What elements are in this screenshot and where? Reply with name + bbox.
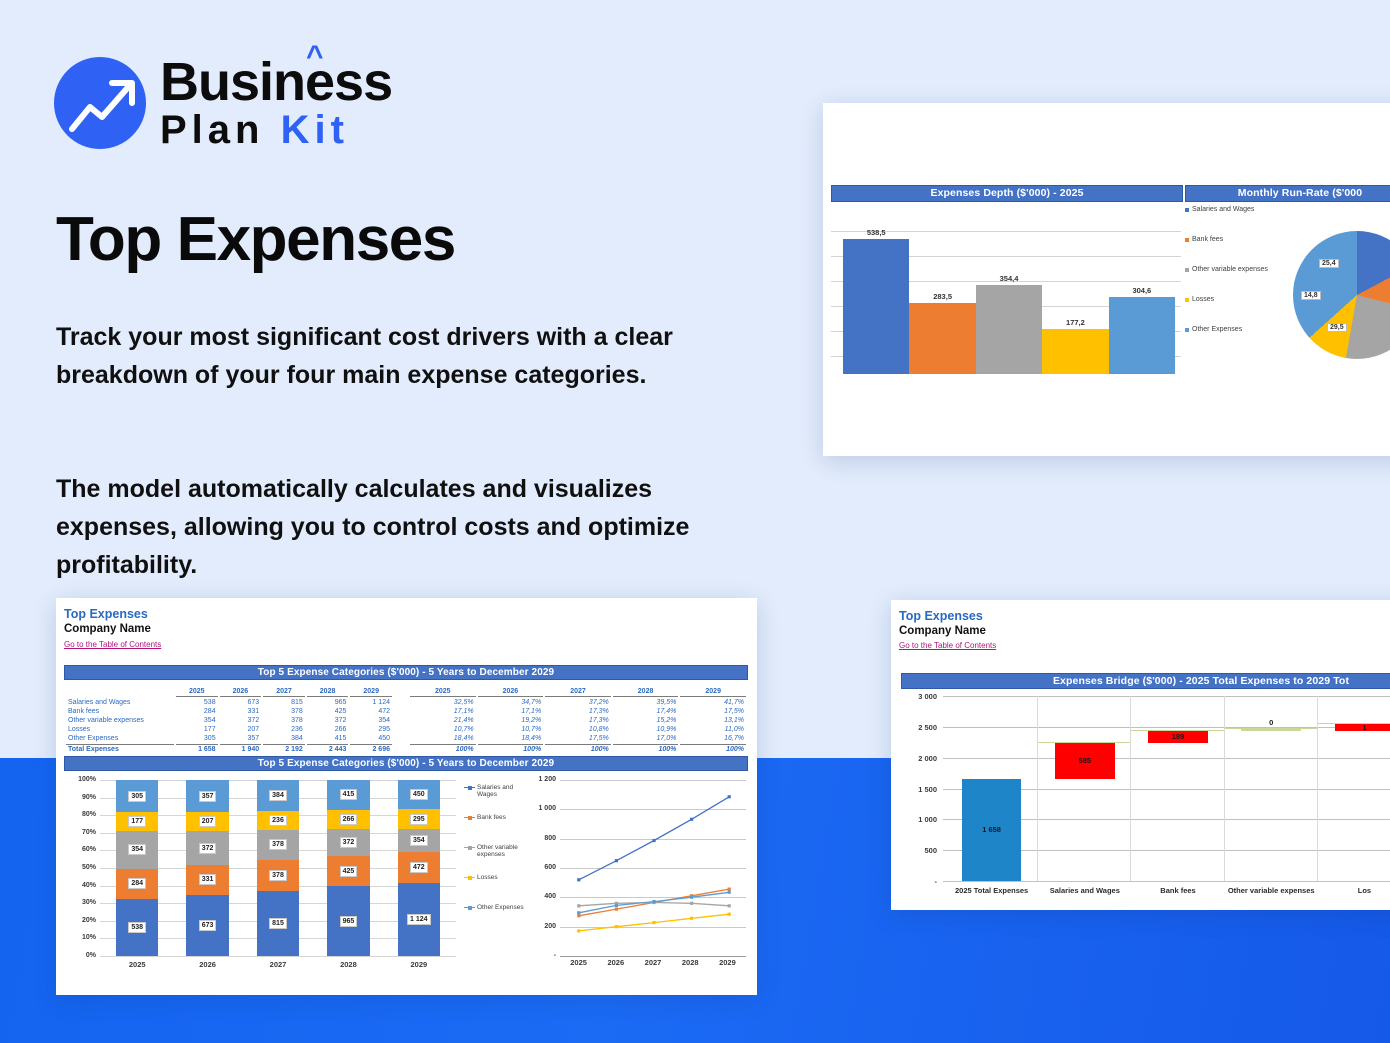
stacked-bar-2029[interactable]: 4502953544721 124 (384, 780, 454, 956)
waterfall-value-label: 1 (1335, 724, 1390, 731)
line-series-0 (579, 797, 729, 880)
pct-cell: 39,5% (613, 699, 679, 706)
waterfall-value-label: 189 (1148, 731, 1208, 743)
table-row: Other Expenses305357384415450 (66, 735, 392, 742)
segment-value-label: 305 (128, 791, 146, 802)
segment-value-label: 425 (340, 866, 358, 877)
table-row: Salaries and Wages5386738159651 124 (66, 699, 392, 706)
hero-paragraph-2: The model automatically calculates and v… (56, 470, 736, 584)
table-cell: 1 940 (220, 744, 262, 753)
segment-value-label: 354 (128, 844, 146, 855)
stack-segment[interactable]: 354 (116, 831, 158, 869)
chart-band-title: Top 5 Expense Categories ($'000) - 5 Yea… (64, 756, 748, 771)
panel-c-toc-link[interactable]: Go to the Table of Contents (899, 641, 996, 650)
line-x-axis: 20252026202720282029 (560, 958, 746, 967)
stack-segment[interactable]: 450 (398, 780, 440, 809)
row-label: Losses (66, 726, 174, 733)
stack-segment[interactable]: 372 (327, 829, 369, 856)
table-cell: 1 658 (176, 744, 218, 753)
segment-value-label: 538 (128, 922, 146, 933)
pct-row: 18,4%18,4%17,5%17,0%16,7% (410, 735, 746, 742)
segment-value-label: 472 (410, 862, 428, 873)
pct-cell: 41,7% (680, 699, 746, 706)
pct-cell: 10,9% (613, 726, 679, 733)
legend-item-salaries-and-wages[interactable]: Salaries and Wages (1185, 206, 1295, 236)
pie-label-other-variable-expenses: 29,5 (1327, 323, 1347, 332)
expenses-depth-title: Expenses Depth ($'000) - 2025 (831, 185, 1183, 202)
stack-segment[interactable]: 378 (257, 830, 299, 860)
expenses-bridge-waterfall-chart[interactable]: 3 0002 5002 0001 5001 000500- 1 65858518… (901, 696, 1390, 906)
legend-label: Other variable expenses (1192, 266, 1268, 273)
bar-group: 538,5 283,5 354,4 177,2 304,6 (843, 224, 1175, 374)
pct-cell: 21,4% (410, 717, 476, 724)
stacked-bar-group: 3051773542845383572073723316733842363783… (102, 780, 454, 956)
table-cell: 372 (307, 717, 349, 724)
legend-label: Bank fees (477, 814, 506, 821)
segment-value-label: 1 124 (407, 914, 431, 925)
waterfall-y-tick: 500 (901, 846, 937, 855)
table-row: Other variable expenses354372378372354 (66, 717, 392, 724)
table-year-header-2027: 2027 (263, 688, 305, 697)
waterfall-value-label: 1 658 (962, 779, 1022, 881)
bar-other-variable-expenses[interactable]: 354,4 (976, 285, 1042, 374)
segment-value-label: 284 (128, 878, 146, 889)
line-y-tick: - (530, 952, 556, 959)
line-y-tick: 1 000 (530, 805, 556, 812)
pct-cell: 18,4% (410, 735, 476, 742)
pct-year-header-2029: 2029 (680, 688, 746, 697)
line-chart-legend: Salaries and Wages Bank fees Other varia… (464, 784, 526, 934)
waterfall-bar-group: 1 65858518901 (945, 696, 1390, 881)
legend-label: Salaries and Wages (1192, 206, 1254, 213)
waterfall-y-tick: 1 500 (901, 785, 937, 794)
brand-logo: Business ^ Plan Kit (54, 56, 392, 150)
table-cell: 415 (307, 735, 349, 742)
line-chart-svg (560, 780, 748, 956)
table-cell: 2 443 (307, 744, 349, 753)
stack-segment[interactable]: 266 (327, 810, 369, 829)
hero-paragraph-1: Track your most significant cost drivers… (56, 318, 736, 394)
segment-value-label: 965 (340, 916, 358, 927)
stacked-bar-chart[interactable]: 100%90%80%70%60%50%40%30%20%10%0% 305177… (66, 776, 456, 976)
stacked-x-tick: 2026 (172, 960, 242, 969)
table-cell: 305 (176, 735, 218, 742)
expenses-bridge-panel[interactable]: Top Expenses Company Name Go to the Tabl… (891, 600, 1390, 910)
monthly-run-rate-pie-chart[interactable]: 25,4 14,8 29,5 (1293, 231, 1390, 359)
pct-row: 10,7%10,7%10,8%10,9%11,0% (410, 726, 746, 733)
stack-segment[interactable]: 1 124 (398, 883, 440, 956)
brand-name-line2: Plan Kit (160, 111, 392, 150)
brand-kit-text: Kit (281, 108, 349, 152)
segment-value-label: 450 (410, 789, 428, 800)
waterfall-y-tick: 2 000 (901, 754, 937, 763)
expenses-trend-line-chart[interactable]: 1 2001 000800600400200- 2025202620272028… (530, 776, 748, 976)
table-band-title: Top 5 Expense Categories ($'000) - 5 Yea… (64, 665, 748, 680)
table-cell: 284 (176, 708, 218, 715)
brand-business-text: Business (160, 52, 392, 112)
table-cell: 378 (263, 708, 305, 715)
pct-row: 17,1%17,1%17,3%17,4%17,5% (410, 708, 746, 715)
panel-b-title: Top Expenses (64, 607, 148, 621)
table-year-header-2026: 2026 (220, 688, 262, 697)
row-label: Bank fees (66, 708, 174, 715)
pct-cell: 11,0% (680, 726, 746, 733)
legend-marker-icon (464, 815, 475, 820)
expense-values-table: 20252026202720282029Salaries and Wages53… (64, 686, 394, 755)
waterfall-y-tick: 2 500 (901, 723, 937, 732)
table-cell: 266 (307, 726, 349, 733)
bar-other-expenses[interactable]: 304,6 (1109, 297, 1175, 374)
waterfall-y-tick: - (901, 877, 937, 886)
trending-up-arrow-icon (54, 57, 146, 149)
line-y-tick: 600 (530, 864, 556, 871)
bar-value-label: 304,6 (1109, 286, 1175, 295)
waterfall-x-tick: 2025 Total Expenses (945, 886, 1038, 895)
pct-cell: 17,5% (680, 708, 746, 715)
stack-segment[interactable]: 965 (327, 886, 369, 956)
waterfall-bar-0[interactable]: 1 658 (945, 696, 1038, 881)
table-cell: 538 (176, 699, 218, 706)
stacked-y-tick: 10% (66, 934, 96, 941)
pct-cell: 17,3% (545, 708, 611, 715)
pct-row: 21,4%19,2%17,3%15,2%13,1% (410, 717, 746, 724)
legend-label: Losses (1192, 296, 1214, 303)
legend-label: Salaries and Wages (477, 784, 526, 798)
bar-value-label: 538,5 (843, 228, 909, 237)
bar-value-label: 177,2 (1042, 318, 1108, 327)
legend-label: Other Expenses (477, 904, 524, 911)
line-y-tick: 400 (530, 893, 556, 900)
stack-segment[interactable]: 415 (327, 780, 369, 810)
stack-segment[interactable]: 815 (257, 891, 299, 956)
legend-item-losses[interactable]: Losses (464, 874, 526, 904)
table-cell: 673 (220, 699, 262, 706)
waterfall-x-axis: 2025 Total ExpensesSalaries and WagesBan… (945, 886, 1390, 895)
stacked-y-tick: 50% (66, 864, 96, 871)
table-total-row: Total Expenses1 6581 9402 1922 4432 696 (66, 744, 392, 753)
legend-swatch-icon (1185, 238, 1189, 242)
bar-salaries-and-wages[interactable]: 538,5 (843, 239, 909, 374)
pct-cell: 100% (613, 744, 679, 753)
waterfall-bar-4[interactable]: 1 (1318, 696, 1390, 881)
stacked-y-tick: 70% (66, 829, 96, 836)
stacked-x-axis: 20252026202720282029 (102, 960, 454, 969)
pct-cell: 17,1% (410, 708, 476, 715)
stack-segment[interactable]: 673 (186, 895, 228, 956)
stack-segment[interactable]: 384 (257, 780, 299, 811)
row-label: Salaries and Wages (66, 699, 174, 706)
segment-value-label: 331 (199, 874, 217, 885)
stacked-y-tick: 0% (66, 952, 96, 959)
stack-segment[interactable]: 331 (186, 865, 228, 895)
stacked-x-tick: 2027 (243, 960, 313, 969)
legend-label: Other variable expenses (477, 844, 526, 858)
pct-cell: 100% (680, 744, 746, 753)
bar-value-label: 283,5 (909, 292, 975, 301)
circumflex-accent-icon: ^ (306, 42, 323, 71)
panel-c-company-name: Company Name (899, 625, 986, 637)
stacked-bar-2027[interactable]: 384236378378815 (243, 780, 313, 956)
monthly-run-rate-title: Monthly Run-Rate ($'000 (1185, 185, 1390, 202)
page-title: Top Expenses (56, 204, 455, 275)
pct-cell: 17,5% (545, 735, 611, 742)
stacked-bar-2028[interactable]: 415266372425965 (313, 780, 383, 956)
segment-value-label: 815 (269, 918, 287, 929)
waterfall-x-tick: Los (1318, 886, 1390, 895)
legend-marker-icon (464, 785, 475, 790)
pie-label-other-expenses: 25,4 (1319, 259, 1339, 268)
legend-marker-icon (464, 845, 475, 850)
stack-segment[interactable]: 425 (327, 856, 369, 887)
pct-cell: 17,4% (613, 708, 679, 715)
panel-b-toc-link[interactable]: Go to the Table of Contents (64, 640, 161, 649)
legend-item-other-expenses[interactable]: Other Expenses (1185, 326, 1295, 356)
table-cell: 425 (307, 708, 349, 715)
segment-value-label: 354 (410, 835, 428, 846)
table-cell: 384 (263, 735, 305, 742)
pct-cell: 17,3% (545, 717, 611, 724)
stack-segment[interactable]: 354 (398, 829, 440, 852)
table-cell: 331 (220, 708, 262, 715)
legend-item-bank-fees[interactable]: Bank fees (464, 814, 526, 844)
table-cell: 207 (220, 726, 262, 733)
legend-swatch-icon (1185, 298, 1189, 302)
stacked-y-tick: 100% (66, 776, 96, 783)
pct-cell: 13,1% (680, 717, 746, 724)
pct-cell: 17,1% (478, 708, 544, 715)
waterfall-y-tick: 1 000 (901, 815, 937, 824)
panel-c-title: Top Expenses (899, 609, 983, 623)
legend-item-other-variable-expenses[interactable]: Other variable expenses (464, 844, 526, 874)
pct-cell: 15,2% (613, 717, 679, 724)
pct-cell: 100% (545, 744, 611, 753)
stacked-y-tick: 20% (66, 917, 96, 924)
segment-value-label: 357 (199, 791, 217, 802)
table-year-header-2025: 2025 (176, 688, 218, 697)
bar-losses[interactable]: 177,2 (1042, 329, 1108, 374)
legend-item-bank-fees[interactable]: Bank fees (1185, 236, 1295, 266)
stacked-x-tick: 2029 (384, 960, 454, 969)
legend-marker-icon (464, 905, 475, 910)
waterfall-x-tick: Bank fees (1131, 886, 1224, 895)
legend-label: Losses (477, 874, 498, 881)
segment-value-label: 673 (199, 920, 217, 931)
stack-segment[interactable]: 295 (398, 809, 440, 828)
stack-segment[interactable]: 207 (186, 812, 228, 831)
panel-a-band-row: Expenses Depth ($'000) - 2025 Monthly Ru… (831, 185, 1390, 202)
table-cell: 472 (350, 708, 392, 715)
table-cell: 354 (350, 717, 392, 724)
pct-cell: 32,5% (410, 699, 476, 706)
waterfall-bar-2[interactable]: 189 (1131, 696, 1224, 881)
pct-cell: 18,4% (478, 735, 544, 742)
panel-b-company-name: Company Name (64, 623, 151, 635)
table-cell: 357 (220, 735, 262, 742)
pct-year-header-2025: 2025 (410, 688, 476, 697)
segment-value-label: 236 (269, 815, 287, 826)
line-y-tick: 200 (530, 923, 556, 930)
pct-year-header-2028: 2028 (613, 688, 679, 697)
pct-row: 32,5%34,7%37,2%39,5%41,7% (410, 699, 746, 706)
table-cell: 372 (220, 717, 262, 724)
segment-value-label: 372 (340, 837, 358, 848)
row-label: Other variable expenses (66, 717, 174, 724)
bar-bank-fees[interactable]: 283,5 (909, 303, 975, 374)
table-year-header-2029: 2029 (350, 688, 392, 697)
line-y-tick: 1 200 (530, 776, 556, 783)
table-row: Bank fees284331378425472 (66, 708, 392, 715)
stacked-y-tick: 40% (66, 882, 96, 889)
legend-item-losses[interactable]: Losses (1185, 296, 1295, 326)
pct-year-header-2026: 2026 (478, 688, 544, 697)
table-cell: 354 (176, 717, 218, 724)
line-x-tick: 2025 (560, 958, 597, 967)
pct-cell: 19,2% (478, 717, 544, 724)
waterfall-y-tick: 3 000 (901, 692, 937, 701)
line-x-tick: 2026 (597, 958, 634, 967)
legend-swatch-icon (1185, 268, 1189, 272)
expenses-depth-legend: Salaries and Wages Bank fees Other varia… (1185, 206, 1295, 356)
legend-label: Other Expenses (1192, 326, 1242, 333)
line-x-tick: 2027 (634, 958, 671, 967)
top-expenses-table-panel[interactable]: Top Expenses Company Name Go to the Tabl… (56, 598, 757, 995)
stack-segment[interactable]: 177 (116, 812, 158, 831)
pct-cell: 100% (478, 744, 544, 753)
pct-year-header-2027: 2027 (545, 688, 611, 697)
segment-value-label: 372 (199, 843, 217, 854)
expense-percent-table: 2025202620272028202932,5%34,7%37,2%39,5%… (408, 686, 748, 755)
stack-segment[interactable]: 472 (398, 852, 440, 883)
stack-segment[interactable]: 284 (116, 869, 158, 899)
legend-marker-icon (464, 875, 475, 880)
table-cell: 378 (263, 717, 305, 724)
pct-cell: 100% (410, 744, 476, 753)
legend-swatch-icon (1185, 208, 1189, 212)
table-cell: 450 (350, 735, 392, 742)
segment-value-label: 415 (340, 789, 358, 800)
brand-plan-text: Plan (160, 108, 264, 152)
stacked-x-tick: 2025 (102, 960, 172, 969)
pct-total-row: 100%100%100%100%100% (410, 744, 746, 753)
waterfall-bar-1[interactable]: 585 (1038, 696, 1131, 881)
legend-swatch-icon (1185, 328, 1189, 332)
stacked-y-tick: 60% (66, 846, 96, 853)
table-row: Losses177207236266295 (66, 726, 392, 733)
waterfall-value-label: 585 (1055, 743, 1115, 779)
pct-cell: 34,7% (478, 699, 544, 706)
brand-name-line1: Business ^ (160, 56, 392, 109)
expenses-depth-panel[interactable]: Expenses Depth ($'000) - 2025 Monthly Ru… (823, 103, 1390, 456)
segment-value-label: 295 (410, 814, 428, 825)
pct-cell: 37,2% (545, 699, 611, 706)
legend-label: Bank fees (1192, 236, 1223, 243)
stack-segment[interactable]: 236 (257, 811, 299, 830)
bridge-band-title: Expenses Bridge ($'000) - 2025 Total Exp… (901, 673, 1390, 689)
waterfall-x-tick: Other variable expenses (1225, 886, 1318, 895)
bar-value-label: 354,4 (976, 274, 1042, 283)
stack-segment[interactable]: 305 (116, 780, 158, 812)
legend-item-other-expenses[interactable]: Other Expenses (464, 904, 526, 934)
row-label: Total Expenses (66, 744, 174, 753)
stack-segment[interactable]: 538 (116, 899, 158, 956)
stack-segment[interactable]: 357 (186, 780, 228, 812)
table-cell: 295 (350, 726, 392, 733)
pie-label-losses: 14,8 (1301, 291, 1321, 300)
pct-cell: 10,8% (545, 726, 611, 733)
stacked-y-tick: 80% (66, 811, 96, 818)
expenses-depth-bar-chart: 538,5 283,5 354,4 177,2 304,6 (831, 206, 1181, 374)
stacked-y-tick: 30% (66, 899, 96, 906)
table-cell: 177 (176, 726, 218, 733)
waterfall-value-label: 0 (1241, 717, 1301, 727)
segment-value-label: 207 (199, 816, 217, 827)
table-cell: 1 124 (350, 699, 392, 706)
stack-segment[interactable]: 372 (186, 831, 228, 865)
row-label: Other Expenses (66, 735, 174, 742)
waterfall-bar-3[interactable]: 0 (1225, 696, 1318, 881)
line-y-tick: 800 (530, 835, 556, 842)
line-x-tick: 2029 (709, 958, 746, 967)
legend-item-salaries-and-wages[interactable]: Salaries and Wages (464, 784, 526, 814)
waterfall-x-tick: Salaries and Wages (1038, 886, 1131, 895)
stacked-y-tick: 90% (66, 794, 96, 801)
segment-value-label: 266 (340, 814, 358, 825)
segment-value-label: 378 (269, 870, 287, 881)
table-cell: 965 (307, 699, 349, 706)
pct-cell: 16,7% (680, 735, 746, 742)
segment-value-label: 177 (128, 816, 146, 827)
legend-item-other-variable-expenses[interactable]: Other variable expenses (1185, 266, 1295, 296)
table-cell: 815 (263, 699, 305, 706)
line-x-tick: 2028 (672, 958, 709, 967)
segment-value-label: 378 (269, 839, 287, 850)
table-cell: 2 192 (263, 744, 305, 753)
stacked-x-tick: 2028 (313, 960, 383, 969)
stacked-bar-2025[interactable]: 305177354284538 (102, 780, 172, 956)
table-cell: 236 (263, 726, 305, 733)
stacked-bar-2026[interactable]: 357207372331673 (172, 780, 242, 956)
stack-segment[interactable]: 378 (257, 860, 299, 890)
table-year-header-2028: 2028 (307, 688, 349, 697)
segment-value-label: 384 (269, 790, 287, 801)
pct-cell: 10,7% (478, 726, 544, 733)
table-cell: 2 696 (350, 744, 392, 753)
pct-cell: 17,0% (613, 735, 679, 742)
pct-cell: 10,7% (410, 726, 476, 733)
